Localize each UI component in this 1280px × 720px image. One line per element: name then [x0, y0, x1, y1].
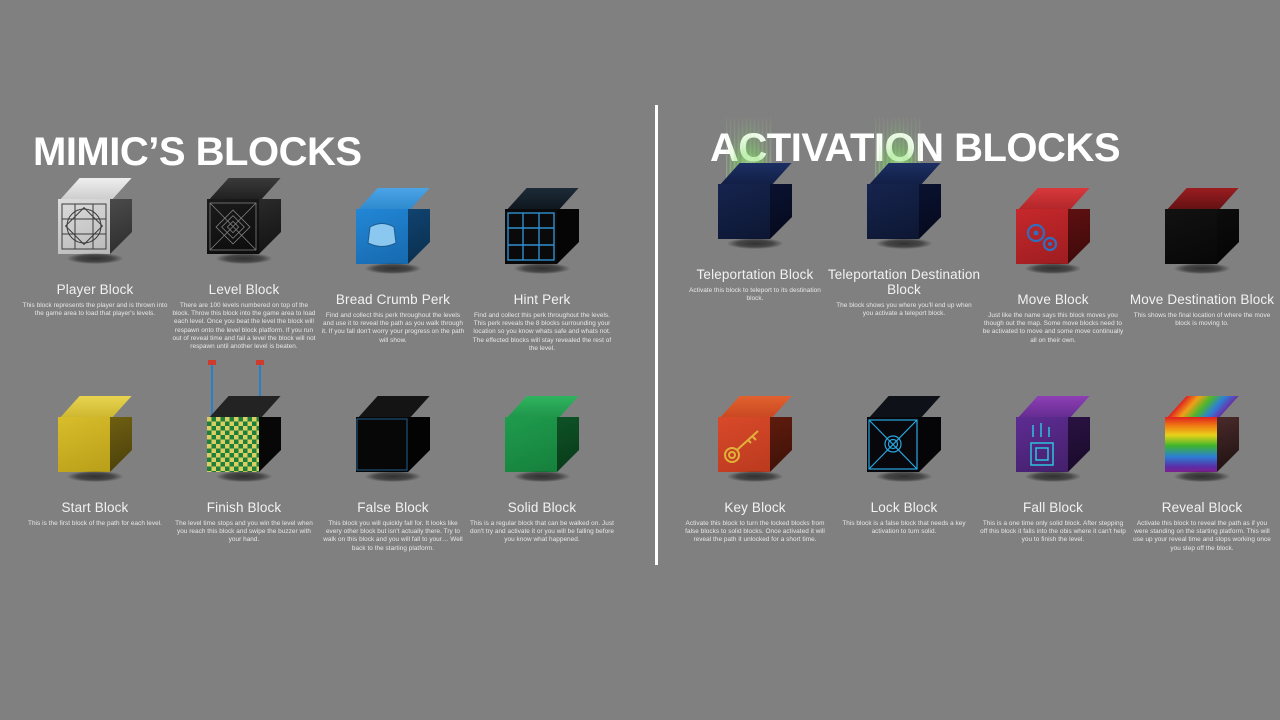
hint-perk-cube-icon	[505, 188, 579, 274]
block-card-lock-block[interactable]: Lock Block This block is a false block t…	[824, 388, 984, 536]
block-name: Teleportation Block	[675, 267, 835, 282]
block-art	[164, 170, 324, 280]
block-card-solid-block[interactable]: Solid Block This is a regular block that…	[462, 388, 622, 545]
level-block-cube-icon	[207, 178, 281, 264]
block-name: False Block	[313, 500, 473, 515]
block-art	[973, 180, 1133, 290]
block-card-hint-perk[interactable]: Hint Perk Find and collect this perk thr…	[462, 180, 622, 353]
start-block-cube-icon	[58, 396, 132, 482]
block-description: The block shows you where you'll end up …	[831, 302, 977, 318]
block-card-move-destination-block[interactable]: Move Destination Block This shows the fi…	[1122, 180, 1280, 328]
block-card-key-block[interactable]: Key Block Activate this block to turn th…	[675, 388, 835, 545]
drop-shadow	[216, 253, 272, 264]
block-card-fall-block[interactable]: Fall Block This is a one time only solid…	[973, 388, 1133, 545]
block-card-false-block[interactable]: False Block This block you will quickly …	[313, 388, 473, 553]
block-name: Fall Block	[973, 500, 1133, 515]
drop-shadow	[67, 253, 123, 264]
block-art	[462, 388, 622, 498]
block-name: Move Destination Block	[1122, 292, 1280, 307]
block-art	[164, 388, 324, 498]
block-card-level-block[interactable]: Level Block There are 100 levels numbere…	[164, 170, 324, 351]
finish-block-cube-icon	[207, 396, 281, 482]
drop-shadow	[67, 471, 123, 482]
block-name: Finish Block	[164, 500, 324, 515]
block-art	[1122, 388, 1280, 498]
drop-shadow	[1025, 471, 1081, 482]
block-art	[824, 155, 984, 265]
buzzer-pole-left	[211, 360, 213, 418]
block-name: Lock Block	[824, 500, 984, 515]
drop-shadow	[1174, 471, 1230, 482]
block-art	[313, 388, 473, 498]
key-block-cube-icon	[718, 396, 792, 482]
block-card-player-block[interactable]: Player Block This block represents the p…	[15, 170, 175, 318]
block-name: Level Block	[164, 282, 324, 297]
block-description: This block represents the player and is …	[22, 302, 168, 318]
drop-shadow	[365, 263, 421, 274]
move-destination-block-cube-icon	[1165, 188, 1239, 274]
player-block-cube-icon	[58, 178, 132, 264]
block-description: This is the first block of the path for …	[22, 520, 168, 528]
fall-block-cube-icon	[1016, 396, 1090, 482]
block-description: This block is a false block that needs a…	[831, 520, 977, 536]
block-art	[15, 388, 175, 498]
drop-shadow	[876, 471, 932, 482]
block-description: There are 100 levels numbered on top of …	[171, 302, 317, 351]
page-title-mimics-blocks: MIMIC’S BLOCKS	[33, 130, 362, 175]
block-card-reveal-block[interactable]: Reveal Block Activate this block to reve…	[1122, 388, 1280, 553]
block-description: This is a regular block that can be walk…	[469, 520, 615, 545]
block-art	[313, 180, 473, 290]
block-art	[824, 388, 984, 498]
block-description: This is a one time only solid block. Aft…	[980, 520, 1126, 545]
drop-shadow	[365, 471, 421, 482]
block-name: Reveal Block	[1122, 500, 1280, 515]
bread-crumb-perk-cube-icon	[356, 188, 430, 274]
block-name: Hint Perk	[462, 292, 622, 307]
vertical-divider	[655, 105, 658, 565]
block-description: Find and collect this perk throughout th…	[469, 312, 615, 353]
block-card-move-block[interactable]: Move Block Just like the name says this …	[973, 180, 1133, 345]
solid-block-cube-icon	[505, 396, 579, 482]
block-card-teleportation-block[interactable]: Teleportation Block Activate this block …	[675, 155, 835, 303]
block-description: Activate this block to teleport to its d…	[682, 287, 828, 303]
block-art	[675, 155, 835, 265]
block-description: Find and collect this perk throughout th…	[320, 312, 466, 345]
checker-pattern	[207, 417, 259, 472]
block-art	[973, 388, 1133, 498]
block-name: Teleportation Destination Block	[824, 267, 984, 297]
drop-shadow	[727, 471, 783, 482]
block-art	[675, 388, 835, 498]
block-card-start-block[interactable]: Start Block This is the first block of t…	[15, 388, 175, 528]
drop-shadow	[1174, 263, 1230, 274]
block-card-teleportation-destination-block[interactable]: Teleportation Destination Block The bloc…	[824, 155, 984, 318]
block-name: Move Block	[973, 292, 1133, 307]
block-name: Solid Block	[462, 500, 622, 515]
block-name: Key Block	[675, 500, 835, 515]
block-name: Bread Crumb Perk	[313, 292, 473, 307]
block-description: This shows the final location of where t…	[1126, 312, 1278, 328]
block-art	[462, 180, 622, 290]
block-name: Player Block	[15, 282, 175, 297]
block-description: Activate this block to turn the locked b…	[682, 520, 828, 545]
drop-shadow	[216, 471, 272, 482]
drop-shadow	[876, 238, 932, 249]
false-block-cube-icon	[356, 396, 430, 482]
blocks-legend-board: MIMIC’S BLOCKS ACTIVATION BLOCKS	[0, 0, 1280, 720]
lock-block-cube-icon	[867, 396, 941, 482]
block-description: This block you will quickly fall for. It…	[320, 520, 466, 553]
drop-shadow	[514, 263, 570, 274]
block-description: The level time stops and you win the lev…	[171, 520, 317, 545]
drop-shadow	[727, 238, 783, 249]
drop-shadow	[1025, 263, 1081, 274]
block-card-finish-block[interactable]: Finish Block The level time stops and yo…	[164, 388, 324, 545]
block-description: Just like the name says this block moves…	[980, 312, 1126, 345]
drop-shadow	[514, 471, 570, 482]
block-description: Activate this block to reveal the path a…	[1129, 520, 1275, 553]
block-art	[1122, 180, 1280, 290]
teleportation-destination-block-cube-icon	[867, 163, 941, 249]
block-art	[15, 170, 175, 280]
block-name: Start Block	[15, 500, 175, 515]
move-block-cube-icon	[1016, 188, 1090, 274]
block-card-bread-crumb-perk[interactable]: Bread Crumb Perk Find and collect this p…	[313, 180, 473, 345]
reveal-block-cube-icon	[1165, 396, 1239, 482]
teleportation-block-cube-icon	[718, 163, 792, 249]
